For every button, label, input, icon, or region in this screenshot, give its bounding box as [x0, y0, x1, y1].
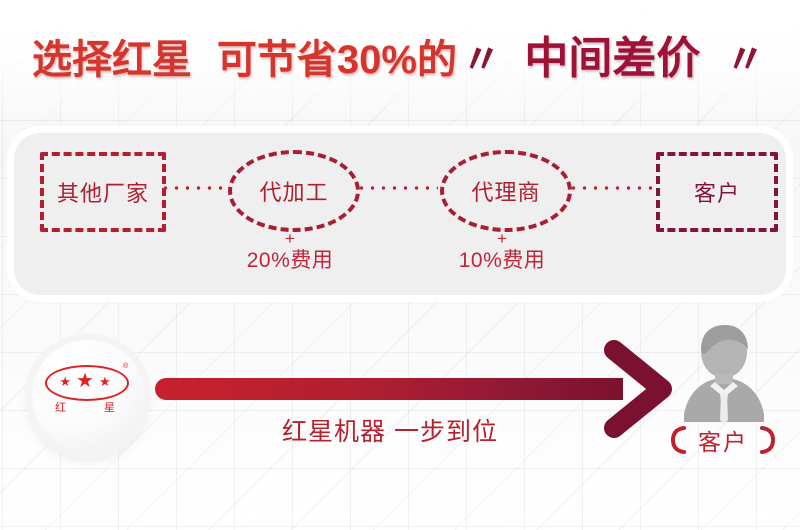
client-tag: 客户 [648, 422, 798, 458]
connector-agent-to-client [568, 186, 654, 190]
fee-oem-plus: + [210, 230, 370, 248]
flow-node-other-factory: 其他厂家 [40, 152, 166, 232]
logo-inner: ★ ★ ★ ® 红 星 [45, 363, 131, 429]
flow-node-other-factory-label: 其他厂家 [57, 176, 149, 208]
arrow-caption: 红星机器 一步到位 [180, 412, 600, 448]
flow-node-client: 客户 [656, 152, 778, 232]
logo-stars-group: ★ ★ ★ [45, 365, 125, 397]
logo-star-right-icon: ★ [99, 375, 111, 388]
client-tag-label: 客户 [698, 423, 748, 457]
connector-factory-to-oem [160, 186, 226, 190]
quote-close-icon: 〃 [725, 29, 763, 91]
headline-part2: 可节省30%的 [217, 38, 457, 82]
flow-node-client-label: 客户 [694, 176, 740, 208]
logo-word-right: 星 [104, 399, 115, 415]
quote-open-icon: 〃 [461, 29, 499, 91]
logo-wordmark: 红 星 [45, 399, 125, 415]
connector-oem-to-agent [356, 186, 438, 190]
flow-node-agent: 代理商 [440, 150, 572, 232]
infographic-canvas: 选择红星 可节省30%的 〃 中间差价 〃 其他厂家 代加工 代理商 客户 + … [0, 0, 800, 530]
fee-agent-plus: + [422, 230, 582, 248]
logo-star-center-icon: ★ [76, 371, 94, 391]
flow-node-oem-label: 代加工 [259, 175, 328, 207]
fee-agent-amount: 10%费用 [422, 248, 582, 274]
logo-registered-mark: ® [123, 363, 128, 370]
bracket-right-icon [760, 425, 776, 455]
logo-word-left: 红 [55, 399, 66, 415]
page-title: 选择红星 可节省30%的 〃 中间差价 〃 [32, 28, 772, 90]
flow-node-agent-label: 代理商 [471, 175, 540, 207]
fee-agent: + 10%费用 [422, 230, 582, 274]
client-avatar [668, 316, 780, 428]
fee-oem: + 20%费用 [210, 230, 370, 274]
flow-node-oem: 代加工 [228, 150, 360, 232]
headline-emphasis: 中间差价 [524, 34, 700, 83]
bracket-left-icon [670, 425, 686, 455]
logo-star-left-icon: ★ [59, 375, 71, 388]
hongxing-logo-badge: ★ ★ ★ ® 红 星 [32, 340, 144, 452]
fee-oem-amount: 20%费用 [210, 248, 370, 274]
direct-arrow-shaft [155, 378, 623, 400]
headline-part1: 选择红星 [32, 38, 192, 82]
